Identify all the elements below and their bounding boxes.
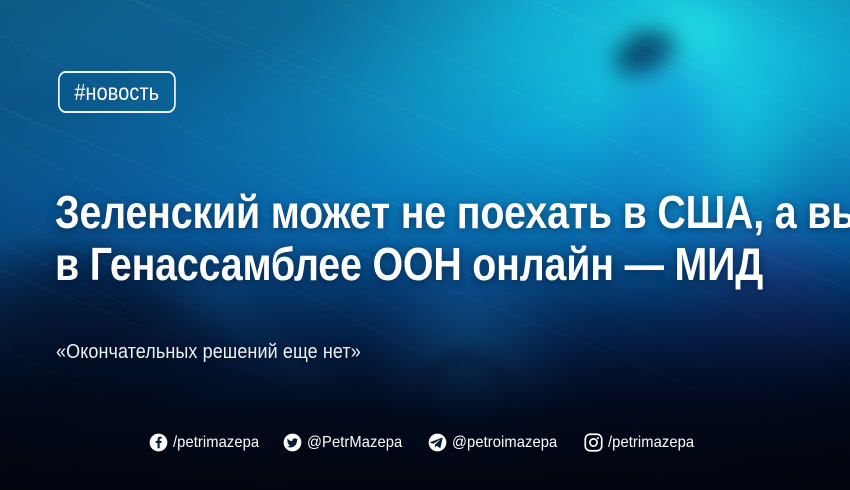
social-link-instagram[interactable]: /petrimazepa [584, 433, 702, 452]
social-links-bar: /petrimazepa @PetrMazepa @petroimazepa [0, 433, 850, 452]
social-link-telegram[interactable]: @petroimazepa [428, 433, 567, 452]
facebook-icon [149, 433, 168, 452]
headline-line-1: Зеленский может не поехать в США, а выст… [55, 186, 739, 238]
social-handle-instagram: /petrimazepa [608, 434, 694, 452]
social-link-facebook[interactable]: /petrimazepa [149, 433, 267, 452]
page-title: Зеленский может не поехать в США, а выст… [55, 186, 739, 290]
subtitle: «Окончательных решений еще нет» [56, 341, 361, 364]
social-link-twitter[interactable]: @PetrMazepa [283, 433, 411, 452]
instagram-icon [584, 433, 603, 452]
headline-line-2: в Генассамблее ООН онлайн — МИД [55, 238, 739, 290]
news-card: #новость Зеленский может не поехать в СШ… [0, 0, 850, 490]
social-handle-facebook: /petrimazepa [173, 434, 259, 452]
telegram-icon [428, 433, 447, 452]
social-handle-twitter: @PetrMazepa [307, 434, 402, 452]
category-badge[interactable]: #новость [58, 71, 176, 113]
social-handle-telegram: @petroimazepa [452, 434, 557, 452]
twitter-icon [283, 433, 302, 452]
card-content: #новость Зеленский может не поехать в СШ… [0, 0, 850, 490]
